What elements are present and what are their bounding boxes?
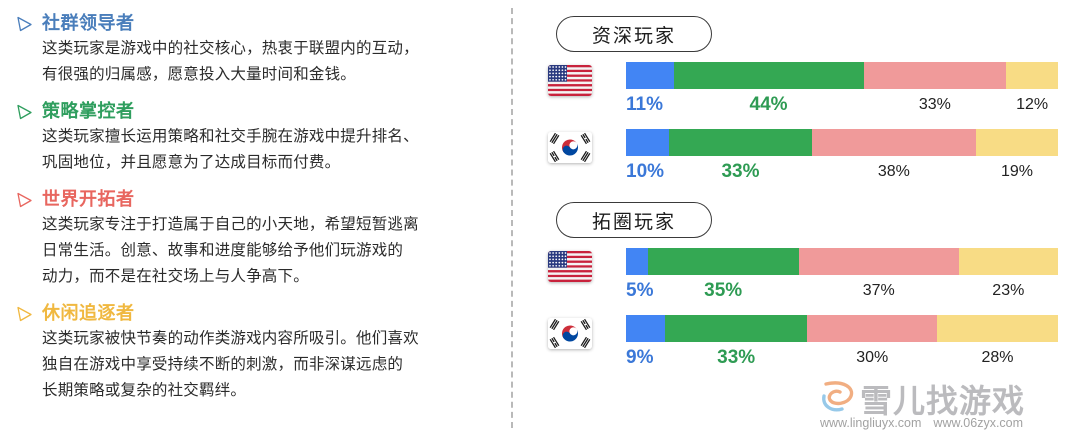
persona-list-panel: 社群领导者这类玩家是游戏中的社交核心，热衷于联盟内的互动，有很强的归属感，愿意投…	[0, 0, 512, 436]
persona-description-line: 动力，而不是在社交场上与人争高下。	[42, 264, 490, 290]
bar-segment-3[interactable]	[1006, 62, 1058, 89]
bar-label-3: 19%	[1001, 158, 1033, 186]
bar-segment-1[interactable]	[665, 315, 808, 342]
persona-description-line: 有很强的归属感，愿意投入大量时间和金钱。	[42, 62, 490, 88]
persona-title: 世界开拓者	[42, 186, 135, 212]
persona-description-line: 长期策略或复杂的社交羁绊。	[42, 378, 490, 404]
bar-segment-3[interactable]	[976, 129, 1058, 156]
group-label-pill-1[interactable]: 拓圈玩家	[556, 202, 712, 238]
bar-segment-1[interactable]	[648, 248, 799, 275]
watermark-swirl-icon	[818, 378, 858, 414]
persona-header: 世界开拓者	[14, 186, 490, 212]
us-flag-icon	[548, 251, 592, 282]
persona-item-0: 社群领导者这类玩家是游戏中的社交核心，热衷于联盟内的互动，有很强的归属感，愿意投…	[14, 10, 490, 88]
bar-label-2: 33%	[919, 91, 951, 119]
watermark-url-1: www.lingliuyx.com	[820, 416, 921, 430]
stacked-bar	[626, 129, 1058, 156]
group-label-pill-0[interactable]: 资深玩家	[556, 16, 712, 52]
bar-segment-3[interactable]	[937, 315, 1058, 342]
persona-description-line: 巩固地位，并且愿意为了达成目标而付费。	[42, 150, 490, 176]
stacked-bar	[626, 62, 1058, 89]
persona-header: 社群领导者	[14, 10, 490, 36]
bar-segment-1[interactable]	[669, 129, 812, 156]
triangle-right-icon	[14, 14, 34, 34]
bar-wrap: 9%33%30%28%	[626, 315, 1058, 372]
bar-segment-2[interactable]	[864, 62, 1007, 89]
bar-segment-3[interactable]	[959, 248, 1058, 275]
watermark: 雪儿找游戏 www.lingliuyx.com www.06zyx.com	[818, 376, 1074, 434]
persona-description-line: 这类玩家擅长运用策略和社交手腕在游戏中提升排名、	[42, 124, 490, 150]
persona-header: 策略掌控者	[14, 98, 490, 124]
triangle-right-icon	[14, 102, 34, 122]
bar-label-1: 33%	[717, 344, 755, 372]
bar-wrap: 11%44%33%12%	[626, 62, 1058, 119]
bar-label-3: 28%	[982, 344, 1014, 372]
bar-label-3: 23%	[992, 277, 1024, 305]
persona-description: 这类玩家专注于打造属于自己的小天地，希望短暂逃离日常生活。创意、故事和进度能够给…	[42, 212, 490, 290]
watermark-brand: 雪儿找游戏	[860, 376, 1025, 422]
persona-title: 休闲追逐者	[42, 300, 135, 326]
bar-segment-2[interactable]	[799, 248, 959, 275]
bar-label-2: 38%	[878, 158, 910, 186]
triangle-right-icon	[14, 190, 34, 210]
bar-label-0: 10%	[626, 158, 664, 186]
triangle-right-icon	[14, 14, 34, 34]
bar-wrap: 10%33%38%19%	[626, 129, 1058, 186]
persona-item-1: 策略掌控者这类玩家擅长运用策略和社交手腕在游戏中提升排名、巩固地位，并且愿意为了…	[14, 98, 490, 176]
bar-label-1: 33%	[721, 158, 759, 186]
kr-flag-icon	[548, 132, 592, 163]
persona-description-line: 这类玩家是游戏中的社交核心，热衷于联盟内的互动，	[42, 36, 490, 62]
bar-segment-0[interactable]	[626, 315, 665, 342]
bar-labels: 11%44%33%12%	[626, 91, 1058, 119]
persona-description: 这类玩家擅长运用策略和社交手腕在游戏中提升排名、巩固地位，并且愿意为了达成目标而…	[42, 124, 490, 176]
bar-label-3: 12%	[1016, 91, 1048, 119]
bar-segment-2[interactable]	[807, 315, 937, 342]
persona-description-line: 独自在游戏中享受持续不断的刺激，而非深谋远虑的	[42, 352, 490, 378]
bar-segment-0[interactable]	[626, 62, 674, 89]
bar-label-2: 30%	[856, 344, 888, 372]
watermark-url-2: www.06zyx.com	[933, 416, 1023, 430]
persona-header: 休闲追逐者	[14, 300, 490, 326]
stacked-bar	[626, 248, 1058, 275]
bar-label-2: 37%	[863, 277, 895, 305]
bar-segment-0[interactable]	[626, 129, 669, 156]
bar-labels: 9%33%30%28%	[626, 344, 1058, 372]
bar-label-0: 11%	[626, 91, 663, 119]
bar-wrap: 5%35%37%23%	[626, 248, 1058, 305]
persona-item-2: 世界开拓者这类玩家专注于打造属于自己的小天地，希望短暂逃离日常生活。创意、故事和…	[14, 186, 490, 290]
chart-group-1: 拓圈玩家5%35%37%23%9%33%30%28%	[530, 186, 1080, 372]
bar-segment-0[interactable]	[626, 248, 648, 275]
chart-row: 9%33%30%28%	[530, 315, 1080, 372]
triangle-right-icon	[14, 304, 34, 324]
bar-label-0: 9%	[626, 344, 653, 372]
chart-group-0: 资深玩家11%44%33%12%10%33%38%19%	[530, 0, 1080, 186]
infographic-page: 社群领导者这类玩家是游戏中的社交核心，热衷于联盟内的互动，有很强的归属感，愿意投…	[0, 0, 1080, 436]
triangle-right-icon	[14, 190, 34, 210]
bar-label-1: 35%	[704, 277, 742, 305]
triangle-right-icon	[14, 102, 34, 122]
persona-item-3: 休闲追逐者这类玩家被快节奏的动作类游戏内容所吸引。他们喜欢独自在游戏中享受持续不…	[14, 300, 490, 404]
bar-segment-2[interactable]	[812, 129, 976, 156]
persona-description-line: 日常生活。创意、故事和进度能够给予他们玩游戏的	[42, 238, 490, 264]
persona-title: 社群领导者	[42, 10, 135, 36]
persona-description: 这类玩家是游戏中的社交核心，热衷于联盟内的互动，有很强的归属感，愿意投入大量时间…	[42, 36, 490, 88]
chart-panel: 资深玩家11%44%33%12%10%33%38%19%拓圈玩家5%35%37%…	[512, 0, 1080, 436]
bar-label-1: 44%	[750, 91, 788, 119]
chart-row: 5%35%37%23%	[530, 248, 1080, 305]
stacked-bar	[626, 315, 1058, 342]
bar-labels: 10%33%38%19%	[626, 158, 1058, 186]
bar-labels: 5%35%37%23%	[626, 277, 1058, 305]
bar-segment-1[interactable]	[674, 62, 864, 89]
triangle-right-icon	[14, 304, 34, 324]
chart-row: 10%33%38%19%	[530, 129, 1080, 186]
kr-flag-icon	[548, 318, 592, 349]
persona-title: 策略掌控者	[42, 98, 135, 124]
chart-row: 11%44%33%12%	[530, 62, 1080, 119]
persona-description-line: 这类玩家被快节奏的动作类游戏内容所吸引。他们喜欢	[42, 326, 490, 352]
persona-description: 这类玩家被快节奏的动作类游戏内容所吸引。他们喜欢独自在游戏中享受持续不断的刺激，…	[42, 326, 490, 404]
persona-description-line: 这类玩家专注于打造属于自己的小天地，希望短暂逃离	[42, 212, 490, 238]
bar-label-0: 5%	[626, 277, 653, 305]
us-flag-icon	[548, 65, 592, 96]
